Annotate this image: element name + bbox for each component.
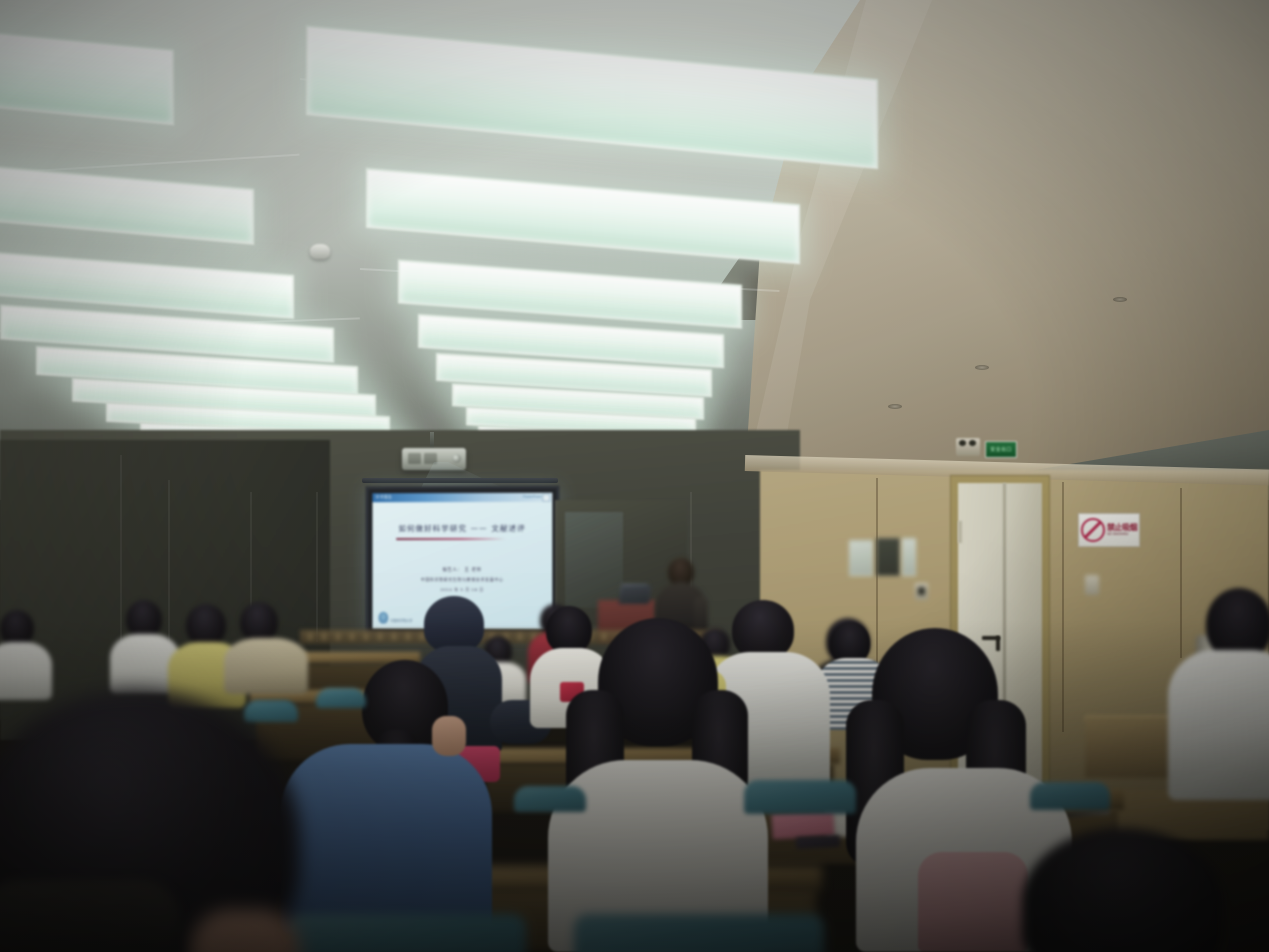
smoke-detector-icon [310, 244, 330, 259]
wall-panel-seam [1180, 488, 1182, 658]
wall-notice-light [849, 540, 873, 576]
slide-window-close-icon [542, 494, 550, 502]
wall-panel-seam [1062, 482, 1064, 732]
person-back-3-body [224, 638, 308, 694]
slide-title: 如何做好科学研究 —— 文献述评 [372, 523, 552, 534]
wall-notice-dark [876, 538, 900, 576]
person-right-edge-body [1168, 650, 1269, 800]
chair-back[interactable] [244, 700, 298, 722]
mobile-phone [796, 835, 841, 849]
no-smoking-icon [1081, 518, 1105, 542]
chair-back[interactable] [1030, 782, 1110, 810]
slide-header-left-text: 学术报告 [375, 494, 392, 500]
slide-title-underline [396, 538, 506, 540]
front-board-glass-panel [565, 512, 623, 608]
emergency-light-bulb-icon [959, 440, 966, 446]
slide-speaker: 报告人： 王 老师 [372, 567, 552, 573]
person-white-pink-trim-pink-panel [918, 852, 1028, 952]
slide-affiliation: 中国科学院研究生院与教育技术发展中心 [372, 577, 552, 583]
projector-vent [408, 453, 421, 464]
person-back-edge-head [0, 610, 34, 646]
wall-outlet[interactable] [1085, 575, 1099, 595]
wall-panel-seam [316, 492, 318, 642]
person-back-2-head [186, 604, 226, 646]
exit-sign-text: 安全出口 [990, 446, 1012, 453]
door-hinge [958, 521, 962, 543]
chair-back[interactable] [514, 786, 586, 812]
no-smoking-main-text: 禁止吸烟 [1107, 524, 1137, 532]
screen-mount-rail [362, 478, 558, 483]
recessed-downlight-icon [888, 404, 902, 409]
projector [402, 448, 466, 470]
person-back-left-head [126, 600, 162, 638]
wall-notice-narrow [902, 538, 916, 576]
slide-date: 2014 年 5 月 16 日 [372, 587, 552, 593]
slide-logo-icon [378, 612, 388, 624]
person-denim-ponytail-ear-neck [432, 716, 466, 756]
emergency-light [956, 438, 980, 456]
slide-header-right-text: PowerPoint [523, 494, 542, 498]
projector-mount [430, 432, 434, 448]
person-white-red-logo-head [546, 606, 592, 654]
person-back-edge-body [0, 642, 52, 700]
person-navy-cap-hat [424, 596, 484, 652]
no-smoking-sign: 禁止吸烟 NO SMOKING [1078, 513, 1140, 547]
chair-back[interactable] [316, 688, 366, 708]
no-smoking-sub-text: NO SMOKING [1107, 533, 1137, 537]
person-back-3-head [240, 602, 278, 642]
person-white-shirt-man-head [732, 600, 794, 660]
presenter-laptop [619, 586, 652, 604]
slide-logo-caption: 中国科学院大学 [390, 618, 412, 623]
light-switch-button[interactable] [918, 587, 925, 595]
person-denim-ponytail-jacket [280, 744, 492, 934]
recessed-downlight-icon [975, 365, 989, 370]
lecture-hall-photo: 学术报告 PowerPoint 如何做好科学研究 —— 文献述评 报告人： 王 … [0, 0, 1269, 952]
person-foreground-shoulder [0, 880, 180, 952]
recessed-downlight-icon [1113, 297, 1127, 302]
exit-sign: 安全出口 [985, 441, 1017, 458]
chair-foreground[interactable] [286, 914, 526, 952]
projector-lens-icon [452, 454, 461, 463]
no-smoking-text-group: 禁止吸烟 NO SMOKING [1107, 524, 1137, 537]
chair-back[interactable] [744, 780, 856, 814]
door-handle-stem[interactable] [996, 636, 1000, 651]
emergency-light-bulb-icon [969, 440, 976, 446]
chair-foreground[interactable] [574, 914, 824, 952]
projector-vent [424, 453, 437, 464]
no-smoking-slash [1084, 521, 1101, 538]
light-switch[interactable] [915, 583, 928, 600]
